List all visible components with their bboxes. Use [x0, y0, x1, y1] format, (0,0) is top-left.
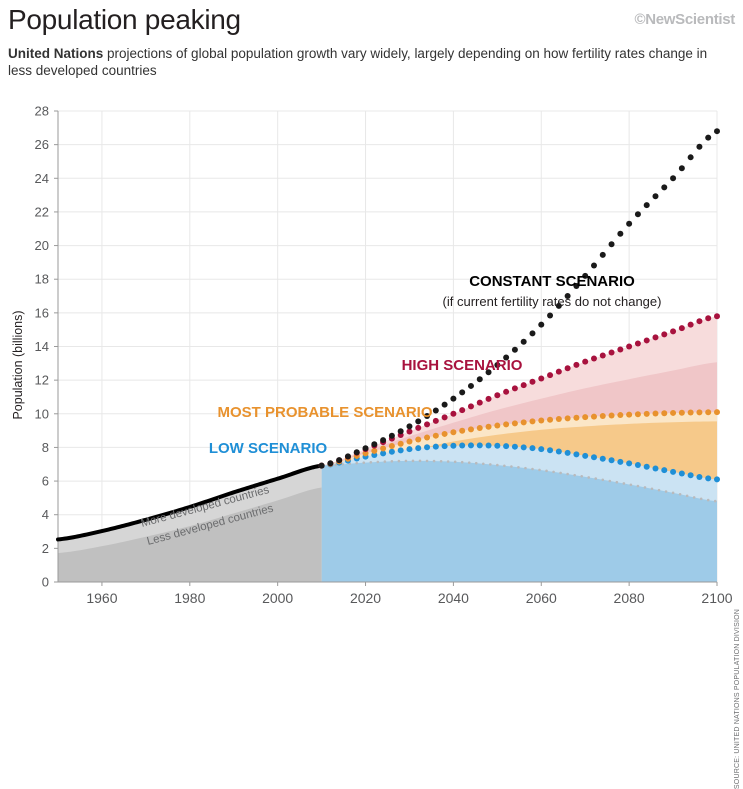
y-tick-label: 4 [42, 507, 49, 522]
y-tick-label: 6 [42, 474, 49, 489]
x-tick-label: 2100 [701, 590, 732, 606]
y-tick-label: 8 [42, 440, 49, 455]
population-projection-chart: 0246810121416182022242628 19601980200020… [0, 95, 743, 615]
chart-header: Population peaking ©NewScientist United … [0, 0, 743, 95]
y-tick-label: 0 [42, 575, 49, 590]
x-tick-label: 2040 [438, 590, 469, 606]
y-tick-label: 24 [35, 171, 49, 186]
annotation-constant-scenario-note: (if current fertility rates do not chang… [443, 294, 662, 309]
x-tick-label: 1980 [174, 590, 205, 606]
x-tick-label: 2060 [526, 590, 557, 606]
y-tick-label: 14 [35, 339, 49, 354]
y-tick-label: 10 [35, 406, 49, 421]
annotation-high-scenario: HIGH SCENARIO [402, 357, 523, 374]
newscientist-logo: ©NewScientist [634, 11, 735, 28]
y-tick-label: 18 [35, 272, 49, 287]
x-tick-labels: 19601980200020202040206020802100 [86, 590, 732, 606]
y-tick-labels: 0246810121416182022242628 [35, 104, 49, 590]
chart-subtitle: United Nations projections of global pop… [8, 45, 730, 79]
chart-plot-area: 0246810121416182022242628 19601980200020… [0, 95, 743, 615]
annotation-most-probable-scenario: MOST PROBABLE SCENARIO [217, 404, 432, 421]
x-tick-label: 2080 [614, 590, 645, 606]
page-title: Population peaking [8, 4, 241, 36]
y-tick-label: 26 [35, 137, 49, 152]
y-tick-label: 16 [35, 305, 49, 320]
source-note: SOURCE: UNITED NATIONS POPULATION DIVISI… [734, 609, 741, 789]
y-tick-label: 28 [35, 104, 49, 119]
y-tick-label: 20 [35, 238, 49, 253]
y-axis-title: Population (billions) [11, 310, 25, 419]
y-tick-label: 12 [35, 373, 49, 388]
chart-subtitle-lead: United Nations [8, 46, 103, 61]
y-tick-label: 22 [35, 204, 49, 219]
annotation-low-scenario: LOW SCENARIO [209, 440, 328, 457]
x-tick-label: 1960 [86, 590, 117, 606]
y-tick-label: 2 [42, 541, 49, 556]
x-tick-label: 2020 [350, 590, 381, 606]
chart-subtitle-rest: projections of global population growth … [8, 46, 707, 78]
annotation-constant-scenario: CONSTANT SCENARIO [469, 273, 635, 290]
x-tick-label: 2000 [262, 590, 293, 606]
